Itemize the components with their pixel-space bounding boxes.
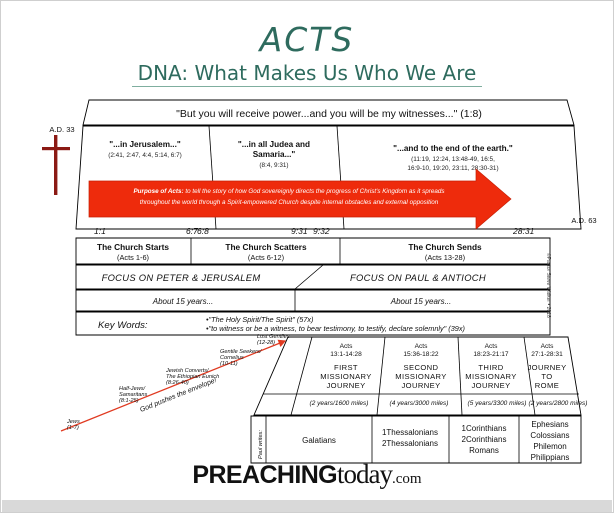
journey-name-1: FIRST xyxy=(334,363,358,372)
journey-name-2: MISSIONARY xyxy=(320,372,372,381)
logo-today: today xyxy=(337,459,392,489)
column-title-2: Samaria..." xyxy=(253,150,296,159)
stage-line: (12-28) xyxy=(257,340,275,346)
section-church-starts: The Church Starts (Acts 1-6) xyxy=(97,242,169,262)
footer-bar xyxy=(2,500,612,512)
journey-name-2: MISSIONARY xyxy=(395,372,447,381)
journey-stat: (5 years/3300 miles) xyxy=(468,400,527,407)
copyright-credit: ©Pastor Steve Walker • 2018 xyxy=(545,253,552,318)
journey-third: Acts 18:23-21:17 THIRD MISSIONARY JOURNE… xyxy=(465,343,526,407)
cross-icon xyxy=(42,135,70,195)
journey-name-2: TO xyxy=(541,372,552,381)
journey-name-3: JOURNEY xyxy=(401,381,440,390)
focus-peter: FOCUS ON PETER & JERUSALEM xyxy=(102,272,261,283)
column-refs: (11:19, 12:24, 13:48-49, 16:5, xyxy=(411,156,495,163)
column-refs-2: 16:9-10, 19:20, 23:11, 28:30-31) xyxy=(407,165,498,172)
key-word-item: •"to witness or be a witness, to bear te… xyxy=(206,324,465,333)
journey-name-3: ROME xyxy=(535,381,559,390)
acts-timeline-diagram: A.D. 33 A.D. 63 "But you will receive po… xyxy=(1,1,614,514)
section-name: The Church Sends xyxy=(408,242,482,252)
journey-first: Acts 13:1-14:28 FIRST MISSIONARY JOURNEY… xyxy=(310,343,372,407)
journey-divider-3 xyxy=(458,337,462,415)
stage-line: (1-7) xyxy=(67,425,79,431)
book-name: Romans xyxy=(469,446,499,455)
purpose-text-1: to tell the story of how God sovereignly… xyxy=(184,188,446,195)
purpose-line-2: throughout the world through a Spirit-em… xyxy=(140,199,439,206)
journey-second: Acts 15:36-18:22 SECOND MISSIONARY JOURN… xyxy=(390,343,449,407)
book-name: Philemon xyxy=(533,442,566,451)
book-name: Colossians xyxy=(530,431,569,440)
books-group-3: 1Corinthians 2Corinthians Romans xyxy=(462,424,507,455)
column-judea-samaria: "...in all Judea and Samaria..." (8:4, 9… xyxy=(238,140,310,169)
purpose-arrow: Purpose of Acts: to tell the story of ho… xyxy=(89,169,511,229)
book-name: 1Corinthians xyxy=(462,424,507,433)
journey-acts-label: Acts xyxy=(485,343,499,350)
journey-acts-label: Acts xyxy=(541,343,555,350)
top-quote-text: "But you will receive power...and you wi… xyxy=(176,108,482,120)
duration-right: About 15 years... xyxy=(390,297,451,306)
journey-name-1: THIRD xyxy=(478,363,503,372)
section-name: The Church Starts xyxy=(97,242,169,252)
logo-preaching: PREACHING xyxy=(192,461,337,489)
journey-name-3: JOURNEY xyxy=(326,381,365,390)
column-title: "...in Jerusalem..." xyxy=(109,140,181,149)
verse-mark-2-end: 9:31 xyxy=(291,226,308,236)
stage-line: (8:26-40) xyxy=(166,380,189,386)
focus-divider xyxy=(295,265,323,289)
expansion-stage-gentile-seekers: Gentile Seekers/ Cornelius (10-11) xyxy=(220,349,263,367)
journey-name-3: JOURNEY xyxy=(471,381,510,390)
section-church-sends: The Church Sends (Acts 13-28) xyxy=(408,242,482,262)
stage-line: (8:1-25) xyxy=(119,398,139,404)
journey-acts-range: 18:23-21:17 xyxy=(473,351,509,358)
journey-acts-label: Acts xyxy=(415,343,429,350)
expansion-stage-samaritans: Half-Jews/ Samaritans (8:1-25) xyxy=(119,386,147,404)
date-end: A.D. 63 xyxy=(571,216,596,225)
column-refs: (8:4, 9:31) xyxy=(259,162,288,169)
column-end-of-earth: "...and to the end of the earth." (11:19… xyxy=(393,144,513,172)
journey-stat: (4 years/3000 miles) xyxy=(390,400,449,407)
books-group-1: Galatians xyxy=(302,436,336,445)
purpose-label: Purpose of Acts: xyxy=(133,188,183,195)
stage-line: (10-11) xyxy=(220,361,238,367)
book-name: 2Thessalonians xyxy=(382,439,438,448)
paul-writes-label: Paul writes: xyxy=(258,430,264,459)
column-title: "...in all Judea and xyxy=(238,140,310,149)
logo-dotcom: .com xyxy=(392,471,422,487)
purpose-line-1: Purpose of Acts: to tell the story of ho… xyxy=(133,188,445,195)
section-name: The Church Scatters xyxy=(225,242,307,252)
book-name: 2Corinthians xyxy=(462,435,507,444)
key-words-label: Key Words: xyxy=(98,320,148,331)
books-group-4: Ephesians Colossians Philemon Philippian… xyxy=(530,420,569,462)
section-range: (Acts 13-28) xyxy=(425,253,465,262)
preaching-today-logo[interactable]: PREACHINGtoday.com xyxy=(1,459,613,490)
journey-divider-2 xyxy=(377,337,385,415)
verse-mark-1-start: 1:1 xyxy=(94,226,106,236)
journey-name-1: SECOND xyxy=(404,363,439,372)
poster-frame: ACTS DNA: What Makes Us Who We Are A.D. … xyxy=(0,0,614,513)
verse-mark-3-end: 28:31 xyxy=(512,226,535,236)
verse-mark-2-start: 6:8 xyxy=(197,226,209,236)
books-group-2: 1Thessalonians 2Thessalonians xyxy=(382,428,438,448)
book-name: Galatians xyxy=(302,436,336,445)
expansion-stage-jews: Jews (1-7) xyxy=(66,419,80,431)
journey-name-2: MISSIONARY xyxy=(465,372,517,381)
journey-acts-range: 13:1-14:28 xyxy=(330,351,362,358)
column-jerusalem: "...in Jerusalem..." (2:41, 2:47, 4:4, 5… xyxy=(108,140,182,159)
journey-acts-label: Acts xyxy=(340,343,354,350)
section-range: (Acts 6-12) xyxy=(248,253,284,262)
date-start: A.D. 33 xyxy=(49,125,74,134)
duration-band xyxy=(76,290,550,311)
duration-left: About 15 years... xyxy=(152,297,213,306)
journey-stat: (2 years/1600 miles) xyxy=(310,400,369,407)
section-range: (Acts 1-6) xyxy=(117,253,149,262)
key-word-item: •"The Holy Spirit/The Spirit" (57x) xyxy=(206,315,314,324)
focus-paul: FOCUS ON PAUL & ANTIOCH xyxy=(350,272,486,283)
journey-name-1: JOURNEY xyxy=(527,363,566,372)
column-refs: (2:41, 2:47, 4:4, 5:14, 6:7) xyxy=(108,152,182,159)
column-title: "...and to the end of the earth." xyxy=(393,144,513,153)
section-church-scatters: The Church Scatters (Acts 6-12) xyxy=(225,242,307,262)
verse-mark-3-start: 9:32 xyxy=(313,226,330,236)
journey-acts-range: 15:36-18:22 xyxy=(403,351,439,358)
journey-acts-range: 27:1-28:31 xyxy=(531,351,563,358)
journey-stat: (2 years/2800 miles) xyxy=(529,400,588,407)
book-name: Ephesians xyxy=(531,420,568,429)
book-name: 1Thessalonians xyxy=(382,428,438,437)
